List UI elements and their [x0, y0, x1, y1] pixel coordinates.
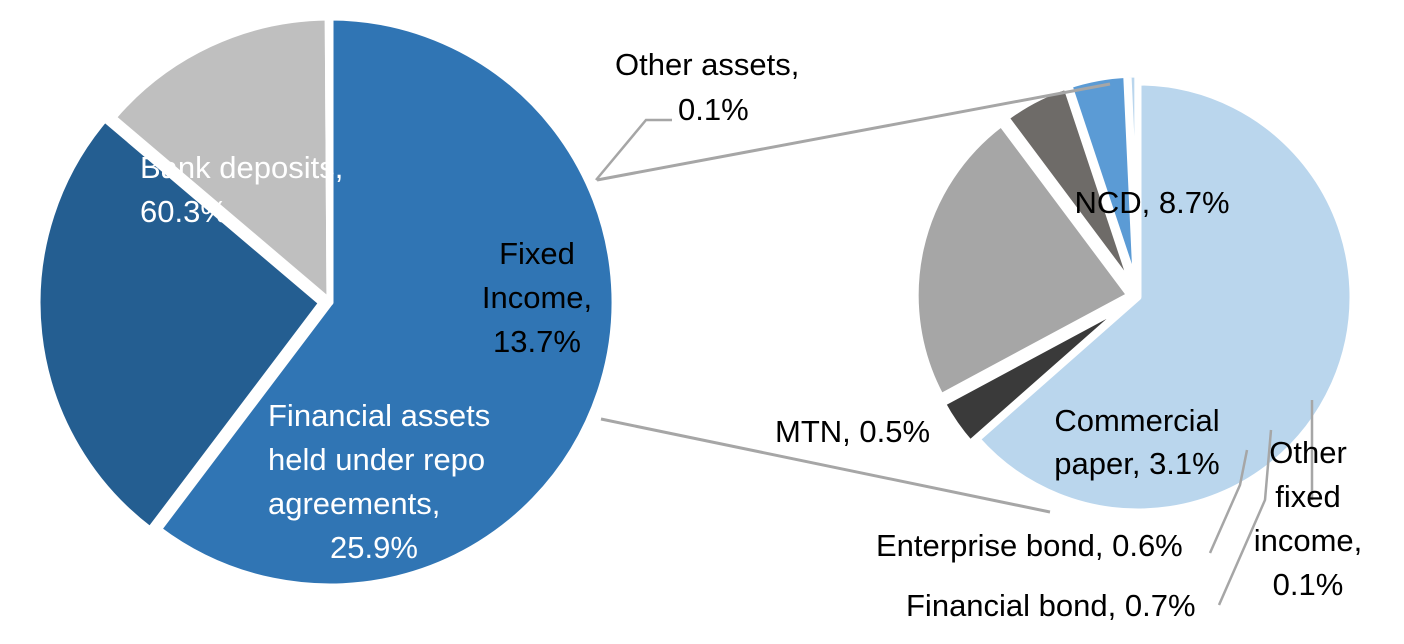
label-enterprise-bond: Enterprise bond, 0.6%	[876, 528, 1183, 563]
label-fixed-income-line3: 13.7%	[493, 324, 581, 359]
label-bank-deposits-line1: Bank deposits,	[140, 150, 343, 185]
label-fixed-income-line2: Income,	[482, 280, 592, 315]
label-commercial-paper-line1: Commercial	[1054, 403, 1219, 438]
label-mtn: MTN, 0.5%	[775, 414, 930, 449]
pie-of-pie-chart: Bank deposits, 60.3% Financial assets he…	[0, 0, 1404, 644]
label-ncd: NCD, 8.7%	[1074, 185, 1229, 220]
label-other-fixed-line2: fixed	[1275, 479, 1340, 514]
label-repo-line3: agreements,	[268, 486, 440, 521]
chart-canvas: Bank deposits, 60.3% Financial assets he…	[0, 0, 1404, 644]
label-bank-deposits-line2: 60.3%	[140, 194, 228, 229]
label-other-fixed-line4: 0.1%	[1273, 567, 1344, 602]
label-financial-bond: Financial bond, 0.7%	[906, 588, 1196, 623]
label-other-assets-line1: Other assets,	[615, 47, 799, 82]
label-other-assets-line2: 0.1%	[678, 92, 749, 127]
label-other-fixed-line1: Other	[1269, 435, 1347, 470]
label-fixed-income-line1: Fixed	[499, 236, 575, 271]
label-repo-line4: 25.9%	[330, 530, 418, 565]
label-commercial-paper-line2: paper, 3.1%	[1054, 446, 1219, 481]
label-repo-line2: held under repo	[268, 442, 485, 477]
leader-other-assets	[596, 120, 672, 180]
label-other-fixed-line3: income,	[1254, 523, 1363, 558]
label-repo-line1: Financial assets	[268, 398, 490, 433]
